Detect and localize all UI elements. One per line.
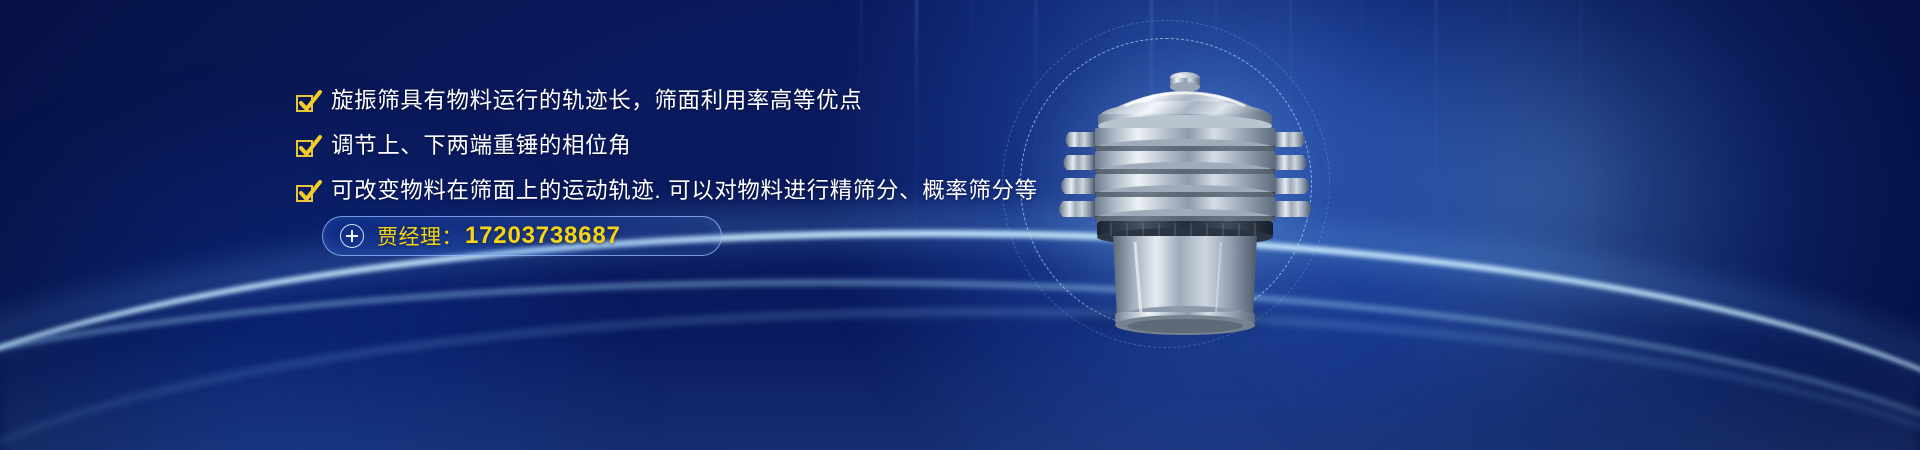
list-item: 可改变物料在筛面上的运动轨迹. 可以对物料进行精筛分、概率筛分等 xyxy=(296,178,1038,204)
product-image-area xyxy=(1000,20,1420,430)
banner-content: 旋振筛具有物料运行的轨迹长，筛面利用率高等优点 调节上、下两端重锤的相位角 xyxy=(0,0,1020,450)
vibrating-sieve-machine xyxy=(1005,50,1365,355)
plus-circle-icon xyxy=(340,224,364,248)
checkbox-check-icon xyxy=(296,139,316,159)
checkbox-check-icon xyxy=(296,94,316,114)
contact-name: 贾经理： xyxy=(377,221,463,251)
contact-button[interactable]: 贾经理： 17203738687 xyxy=(322,216,722,256)
feature-list: 旋振筛具有物料运行的轨迹长，筛面利用率高等优点 调节上、下两端重锤的相位角 xyxy=(296,88,1038,223)
promo-banner: 旋振筛具有物料运行的轨迹长，筛面利用率高等优点 调节上、下两端重锤的相位角 xyxy=(0,0,1920,450)
list-item: 调节上、下两端重锤的相位角 xyxy=(296,133,1038,159)
contact-phone: 17203738687 xyxy=(465,222,621,250)
checkbox-check-icon xyxy=(296,184,316,204)
feature-text: 可改变物料在筛面上的运动轨迹. 可以对物料进行精筛分、概率筛分等 xyxy=(331,178,1038,204)
list-item: 旋振筛具有物料运行的轨迹长，筛面利用率高等优点 xyxy=(296,88,1038,114)
feature-text: 旋振筛具有物料运行的轨迹长，筛面利用率高等优点 xyxy=(331,88,862,114)
feature-text: 调节上、下两端重锤的相位角 xyxy=(331,133,631,159)
